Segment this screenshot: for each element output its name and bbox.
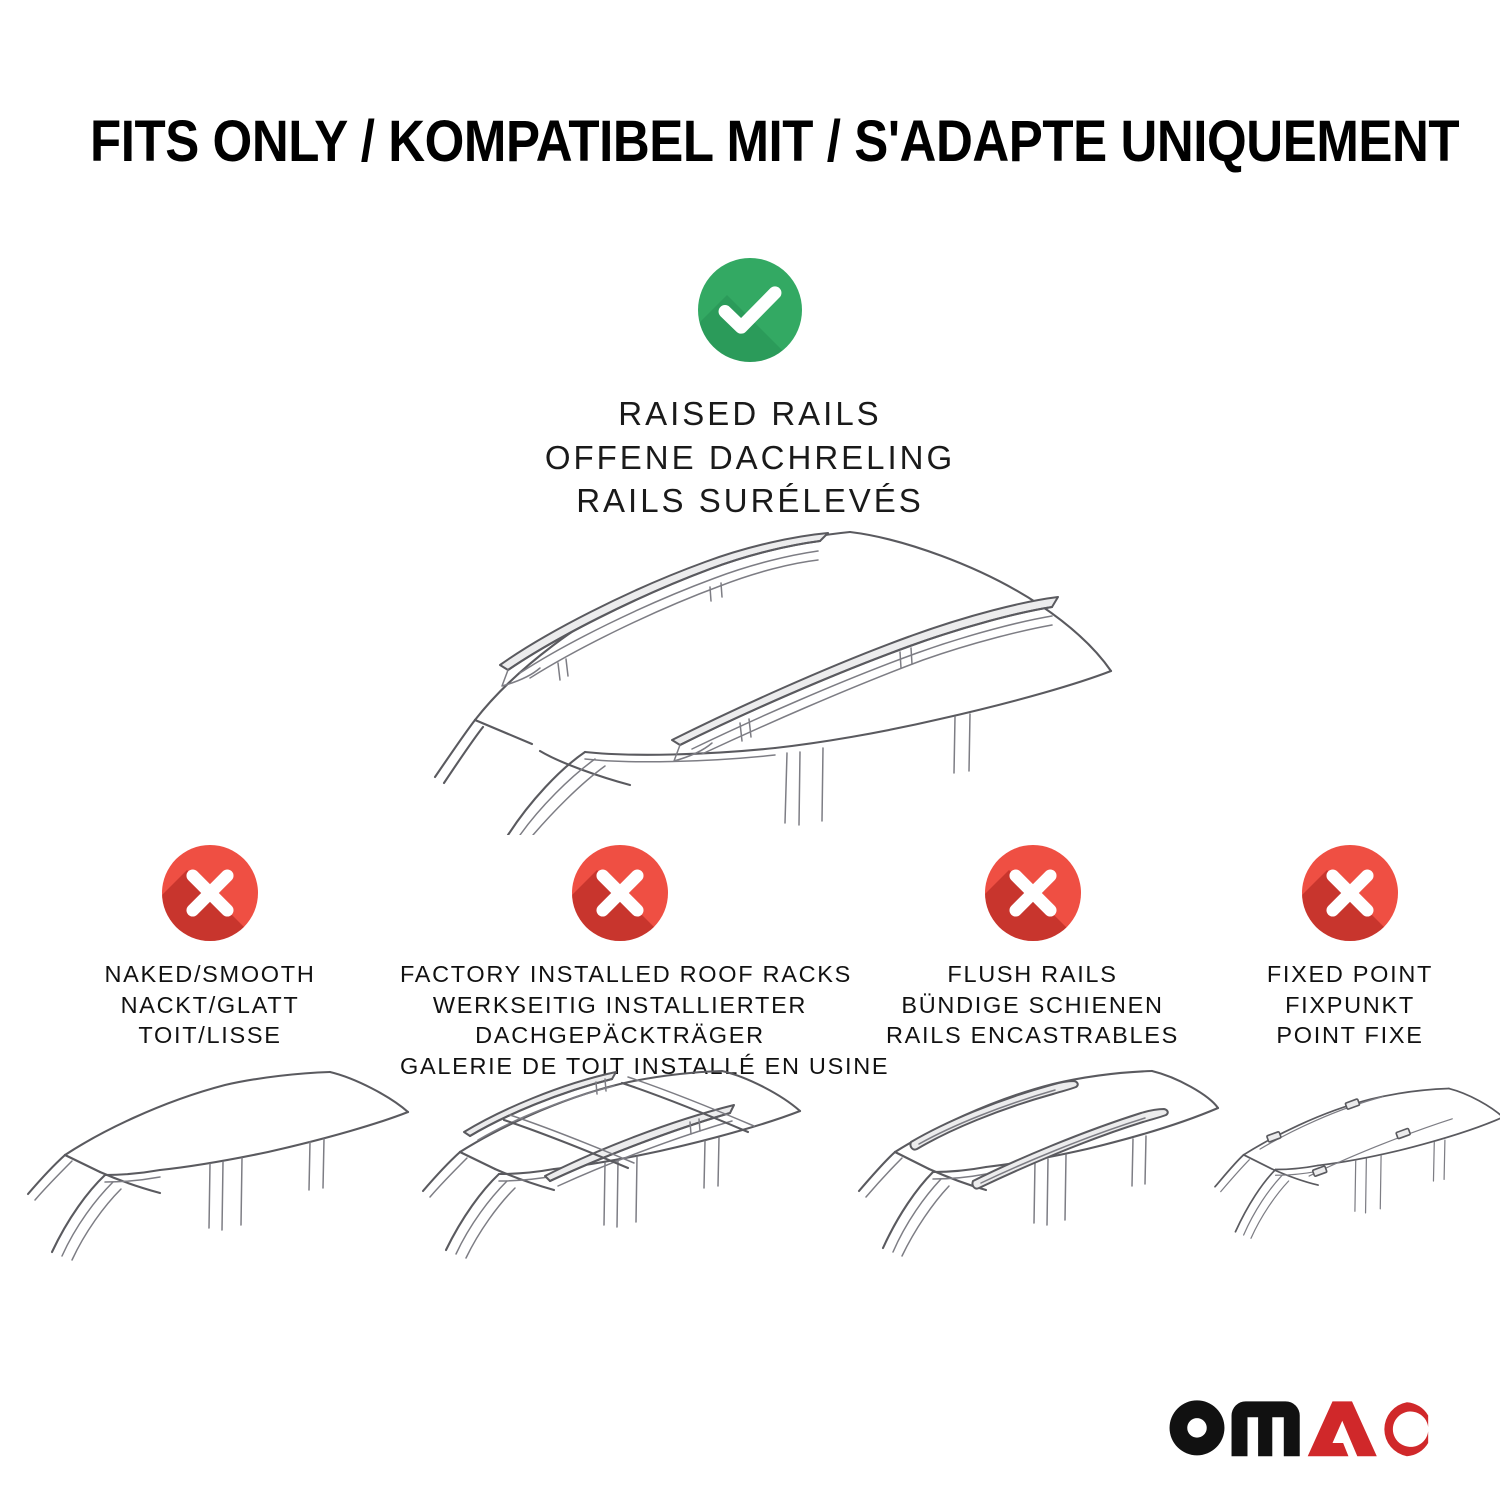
column-label-fr: TOIT/LISSE xyxy=(10,1020,410,1051)
check-circle-icon xyxy=(698,258,802,362)
cross-circle-icon xyxy=(572,845,668,941)
column-labels: FIXED POINT FIXPUNKT POINT FIXE xyxy=(1215,959,1485,1051)
column-label-de: FIXPUNKT xyxy=(1215,990,1485,1021)
raised-rails-drawing xyxy=(380,505,1120,835)
column-label-de: NACKT/GLATT xyxy=(10,990,410,1021)
column-label-fr: RAILS ENCASTRABLES xyxy=(845,1020,1220,1051)
cross-circle-icon xyxy=(162,845,258,941)
column-label-de-2: DACHGEPÄCKTRÄGER xyxy=(400,1020,840,1051)
compatible-section: RAISED RAILS OFFENE DACHRELING RAILS SUR… xyxy=(0,258,1500,523)
incompatible-section: NAKED/SMOOTH NACKT/GLATT TOIT/LISSE xyxy=(0,845,1500,1305)
page-title: FITS ONLY / KOMPATIBEL MIT / S'ADAPTE UN… xyxy=(90,108,1410,175)
column-label-en: NAKED/SMOOTH xyxy=(10,959,410,990)
cross-circle-icon xyxy=(985,845,1081,941)
column-label-de: BÜNDIGE SCHIENEN xyxy=(845,990,1220,1021)
column-label-de-1: WERKSEITIG INSTALLIERTER xyxy=(400,990,840,1021)
column-labels: NAKED/SMOOTH NACKT/GLATT TOIT/LISSE xyxy=(10,959,410,1051)
icon-wrap xyxy=(400,845,840,957)
column-labels: FLUSH RAILS BÜNDIGE SCHIENEN RAILS ENCAS… xyxy=(845,959,1220,1051)
icon-wrap xyxy=(10,845,410,957)
car-roof-naked-smooth-drawing xyxy=(10,1060,410,1275)
compatible-labels: RAISED RAILS OFFENE DACHRELING RAILS SUR… xyxy=(0,392,1500,523)
column-label-en: FACTORY INSTALLED ROOF RACKS xyxy=(400,959,840,990)
car-roof-flush-rails-drawing xyxy=(845,1060,1220,1275)
incompatible-column-factory-racks: FACTORY INSTALLED ROOF RACKS WERKSEITIG … xyxy=(400,845,840,1081)
car-roof-factory-racks-drawing xyxy=(400,1060,840,1275)
incompatible-column-fixed-point: FIXED POINT FIXPUNKT POINT FIXE xyxy=(1215,845,1485,1051)
incompatible-column-flush-rails: FLUSH RAILS BÜNDIGE SCHIENEN RAILS ENCAS… xyxy=(845,845,1220,1051)
column-label-en: FIXED POINT xyxy=(1215,959,1485,990)
cross-circle-icon xyxy=(1302,845,1398,941)
compatible-label-en: RAISED RAILS xyxy=(0,392,1500,436)
compatible-label-de: OFFENE DACHRELING xyxy=(0,436,1500,480)
omac-logo xyxy=(1166,1396,1432,1458)
incompatible-column-naked-smooth: NAKED/SMOOTH NACKT/GLATT TOIT/LISSE xyxy=(10,845,410,1051)
car-roof-fixed-point-drawing xyxy=(1215,1060,1485,1275)
column-label-fr: POINT FIXE xyxy=(1215,1020,1485,1051)
icon-wrap xyxy=(1215,845,1485,957)
column-label-en: FLUSH RAILS xyxy=(845,959,1220,990)
icon-wrap xyxy=(845,845,1220,957)
